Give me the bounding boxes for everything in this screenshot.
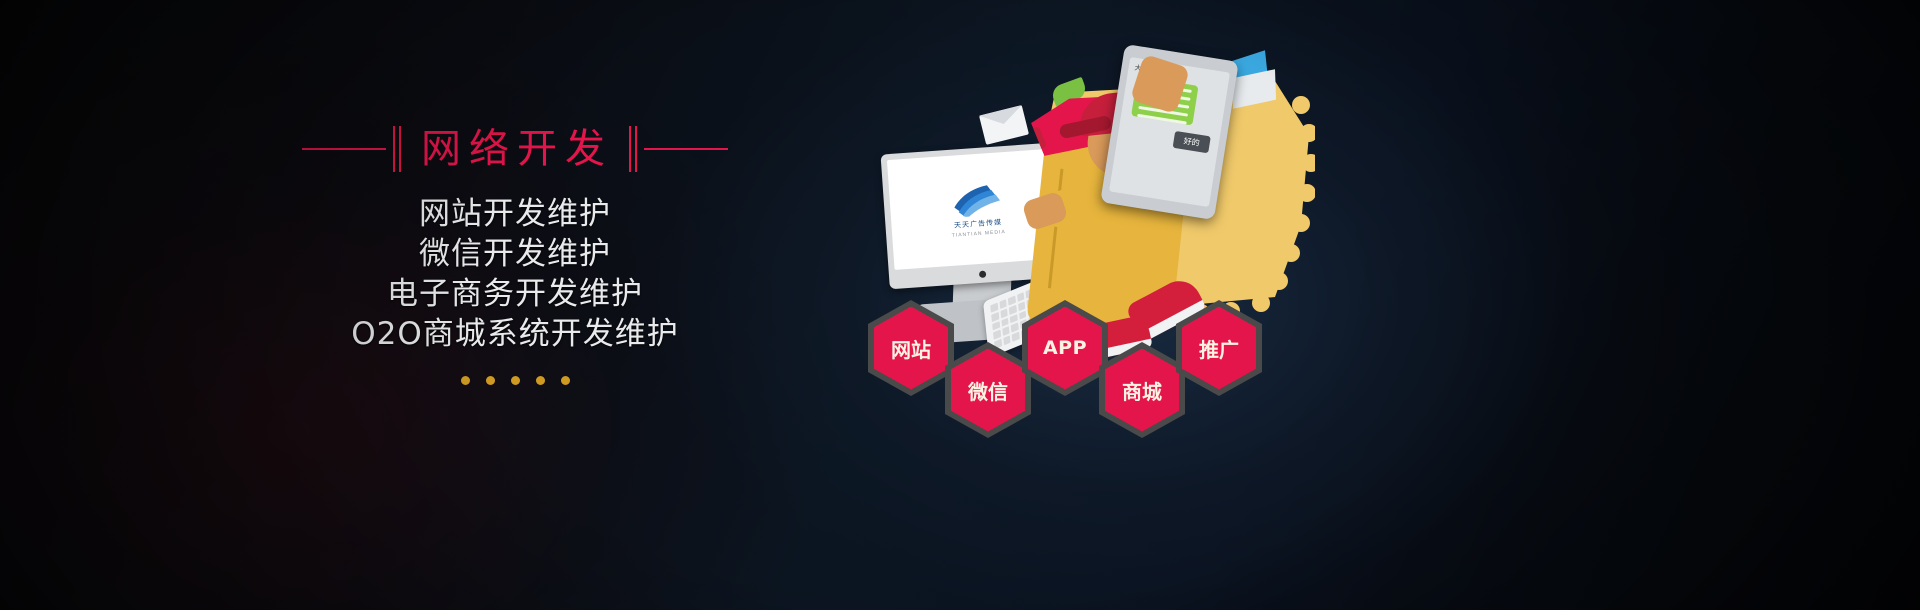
dot-5 bbox=[561, 376, 570, 385]
hexagon-promotion[interactable]: 推广 bbox=[1176, 300, 1262, 396]
hexagon-app-label: APP bbox=[1043, 337, 1087, 359]
hexagon-mall[interactable]: 商城 bbox=[1099, 342, 1185, 438]
title-row: 网络开发 bbox=[300, 118, 730, 180]
illustration: 天天广告传媒 TIANTIAN MEDIA bbox=[840, 0, 1360, 610]
hexagon-wechat-label: 微信 bbox=[968, 376, 1008, 405]
subtitle-line-2: 微信开发维护 bbox=[300, 234, 730, 274]
hexagon-website-label: 网站 bbox=[891, 334, 931, 363]
hexagon-app[interactable]: APP bbox=[1022, 300, 1108, 396]
dot-1 bbox=[461, 376, 470, 385]
hexagon-group: 网站 微信 APP 商城 推广 bbox=[840, 0, 1360, 610]
text-column: 网络开发 网站开发维护 微信开发维护 电子商务开发维护 O2O商城系统开发维护 bbox=[300, 118, 730, 385]
title-left-dash bbox=[302, 148, 386, 150]
banner-root: 网络开发 网站开发维护 微信开发维护 电子商务开发维护 O2O商城系统开发维护 bbox=[0, 0, 1920, 610]
decorative-dots bbox=[300, 376, 730, 385]
subtitle-list: 网站开发维护 微信开发维护 电子商务开发维护 O2O商城系统开发维护 bbox=[300, 194, 730, 354]
subtitle-line-3: 电子商务开发维护 bbox=[300, 274, 730, 314]
title-right-bars bbox=[629, 126, 637, 172]
hexagon-wechat[interactable]: 微信 bbox=[945, 342, 1031, 438]
hexagon-promotion-label: 推广 bbox=[1199, 334, 1239, 363]
subtitle-line-1: 网站开发维护 bbox=[300, 194, 730, 234]
dot-4 bbox=[536, 376, 545, 385]
title-right-dash bbox=[644, 148, 728, 150]
dot-3 bbox=[511, 376, 520, 385]
hexagon-website[interactable]: 网站 bbox=[868, 300, 954, 396]
dot-2 bbox=[486, 376, 495, 385]
title-left-bars bbox=[393, 126, 401, 172]
page-title: 网络开发 bbox=[417, 126, 613, 172]
subtitle-line-4: O2O商城系统开发维护 bbox=[300, 314, 730, 354]
hexagon-mall-label: 商城 bbox=[1122, 376, 1162, 405]
